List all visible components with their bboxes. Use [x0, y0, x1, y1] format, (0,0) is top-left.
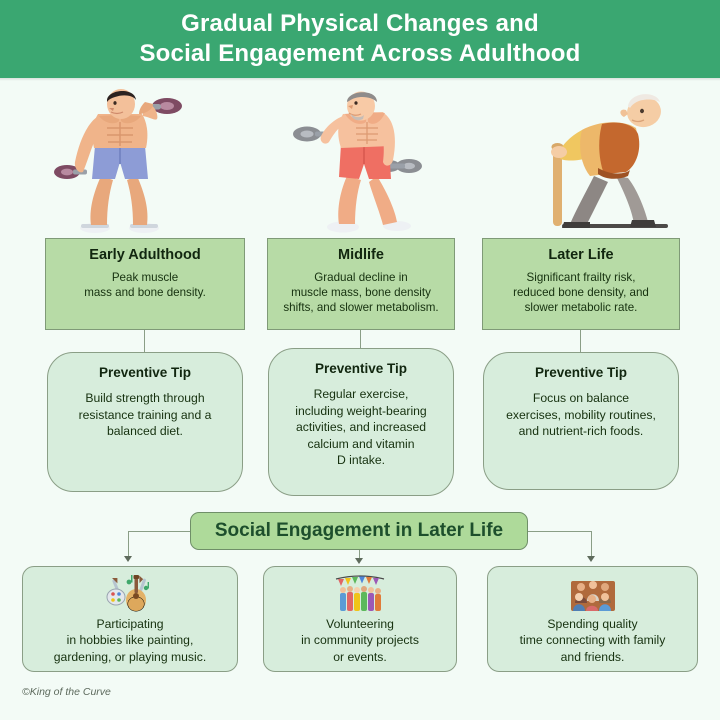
tip-title: Preventive Tip [315, 361, 407, 376]
tip-body: Regular exercise,including weight-bearin… [295, 386, 426, 469]
illustration-older-man-with-cane [480, 82, 720, 234]
stage-card-later-life: Later Life Significant frailty risk,redu… [482, 238, 680, 330]
social-card-body: Participatingin hobbies like painting,ga… [54, 616, 206, 666]
midlife-man-lifting-dumbbells-icon [285, 84, 435, 234]
social-card-family-friends: Spending qualitytime connecting with fam… [487, 566, 698, 672]
social-card-body: Spending qualitytime connecting with fam… [520, 616, 666, 666]
older-man-with-cane-icon [520, 84, 680, 234]
stage-card-early-adulthood: Early Adulthood Peak musclemass and bone… [45, 238, 245, 330]
preventive-tip-later-life: Preventive Tip Focus on balanceexercises… [483, 352, 679, 490]
tip-title: Preventive Tip [535, 365, 627, 380]
stage-body: Peak musclemass and bone density. [84, 270, 206, 300]
arrow-to-family-card [587, 556, 595, 562]
stage-title: Early Adulthood [89, 247, 200, 263]
connector-stage-to-tip-1 [144, 330, 145, 353]
header-banner: Gradual Physical Changes and Social Enga… [0, 0, 720, 78]
arrow-to-hobbies-card [124, 556, 132, 562]
social-card-hobbies: Participatingin hobbies like painting,ga… [22, 566, 238, 672]
banner-drop-right [591, 531, 592, 557]
infographic-root: Gradual Physical Changes and Social Enga… [0, 0, 720, 720]
hobbies-guitar-palette-icon [102, 573, 158, 614]
volunteering-people-banner-icon [332, 573, 388, 614]
stage-title: Midlife [338, 247, 384, 263]
stage-body: Significant frailty risk,reduced bone de… [513, 270, 649, 315]
stage-card-midlife: Midlife Gradual decline inmuscle mass, b… [267, 238, 455, 330]
social-card-body: Volunteeringin community projectsor even… [301, 616, 419, 666]
banner-label: Social Engagement in Later Life [215, 520, 503, 542]
header-title-line-1: Gradual Physical Changes and [181, 9, 539, 39]
tip-title: Preventive Tip [99, 365, 191, 380]
banner-connector-left [128, 531, 192, 532]
stage-card-row: Early Adulthood Peak musclemass and bone… [0, 238, 720, 334]
banner-connector-right [526, 531, 592, 532]
young-man-lifting-dumbbells-icon [45, 84, 195, 234]
stage-title: Later Life [548, 247, 613, 263]
preventive-tip-midlife: Preventive Tip Regular exercise,includin… [268, 348, 454, 496]
header-shadow [0, 78, 720, 81]
illustration-young-man-lifting-dumbbells [0, 82, 240, 234]
connector-stage-to-tip-2 [360, 330, 361, 349]
social-card-volunteering: Volunteeringin community projectsor even… [263, 566, 457, 672]
illustration-midlife-man-lifting-dumbbells [240, 82, 480, 234]
banner-drop-left [128, 531, 129, 557]
illustration-row [0, 82, 720, 234]
arrow-to-volunteering-card [355, 558, 363, 564]
tip-body: Build strength throughresistance trainin… [79, 390, 212, 440]
connector-stage-to-tip-3 [580, 330, 581, 353]
tip-body: Focus on balanceexercises, mobility rout… [506, 390, 656, 440]
stage-body: Gradual decline inmuscle mass, bone dens… [283, 270, 438, 315]
preventive-tip-early-adulthood: Preventive Tip Build strength throughres… [47, 352, 243, 492]
header-title-line-2: Social Engagement Across Adulthood [139, 39, 580, 69]
social-engagement-banner: Social Engagement in Later Life [190, 512, 528, 550]
copyright-credit: ©King of the Curve [22, 686, 111, 698]
family-friends-group-icon [567, 573, 619, 614]
